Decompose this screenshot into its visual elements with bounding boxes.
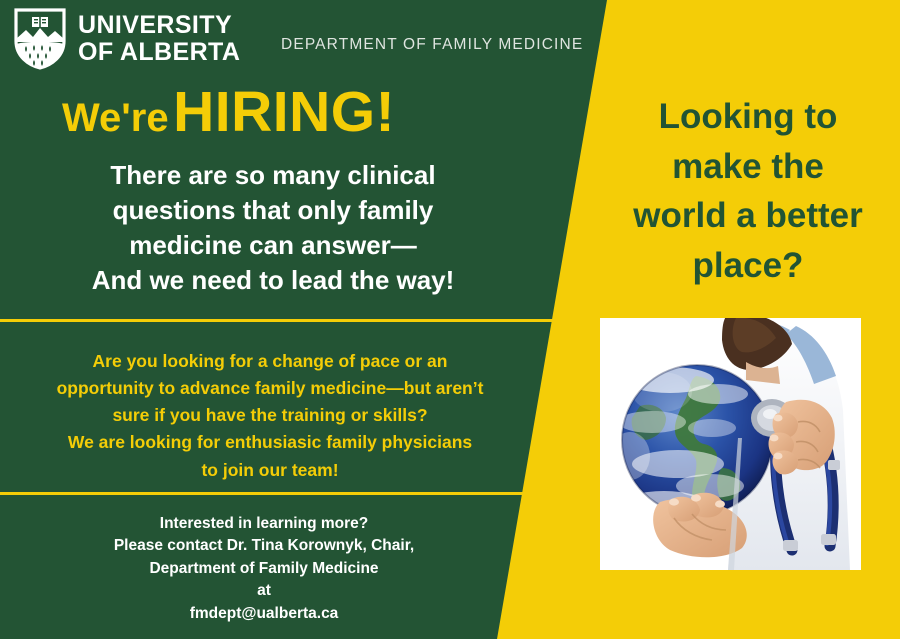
university-wordmark: UNIVERSITY OF ALBERTA: [78, 12, 240, 66]
contact-email[interactable]: fmdept@ualberta.ca: [0, 603, 528, 625]
contact-line: Department of Family Medicine: [0, 558, 528, 580]
pitch-line: medicine can answer—: [0, 228, 546, 263]
pitch-line: And we need to lead the way!: [0, 263, 546, 298]
headline-small: We're: [62, 96, 169, 140]
pitch-block: There are so many clinical questions tha…: [0, 158, 546, 298]
mid-copy-line: Are you looking for a change of pace or …: [0, 348, 540, 375]
mid-copy-line: opportunity to advance family medicine—b…: [0, 375, 540, 402]
right-panel-headline: Looking to make the world a better place…: [608, 92, 888, 291]
contact-line: Interested in learning more?: [0, 513, 528, 535]
contact-line: Please contact Dr. Tina Korownyk, Chair,: [0, 535, 528, 557]
contact-block: Interested in learning more? Please cont…: [0, 513, 528, 625]
mid-copy-block: Are you looking for a change of pace or …: [0, 348, 540, 484]
wordmark-line-2: OF ALBERTA: [78, 39, 240, 66]
headline-big: HIRING!: [173, 80, 395, 144]
university-of-alberta-shield-icon: [14, 8, 66, 70]
mid-copy-line: to join our team!: [0, 457, 540, 484]
doctor-with-globe-photo: [600, 318, 861, 570]
section-divider-lower: [0, 492, 546, 495]
section-divider-upper: [0, 319, 576, 322]
contact-line: at: [0, 580, 528, 602]
right-headline-line: place?: [608, 241, 888, 291]
department-label: DEPARTMENT OF FAMILY MEDICINE: [281, 36, 583, 54]
mid-copy-line: We are looking for enthusiasic family ph…: [0, 429, 540, 456]
pitch-line: questions that only family: [0, 193, 546, 228]
brand-header: UNIVERSITY OF ALBERTA: [14, 8, 240, 70]
page-title: We're HIRING!: [62, 84, 395, 141]
right-headline-line: Looking to: [608, 92, 888, 142]
pitch-line: There are so many clinical: [0, 158, 546, 193]
mid-copy-line: sure if you have the training or skills?: [0, 402, 540, 429]
wordmark-line-1: UNIVERSITY: [78, 12, 240, 39]
right-headline-line: world a better: [608, 191, 888, 241]
right-headline-line: make the: [608, 142, 888, 192]
recruitment-poster: UNIVERSITY OF ALBERTA DEPARTMENT OF FAMI…: [0, 0, 900, 639]
